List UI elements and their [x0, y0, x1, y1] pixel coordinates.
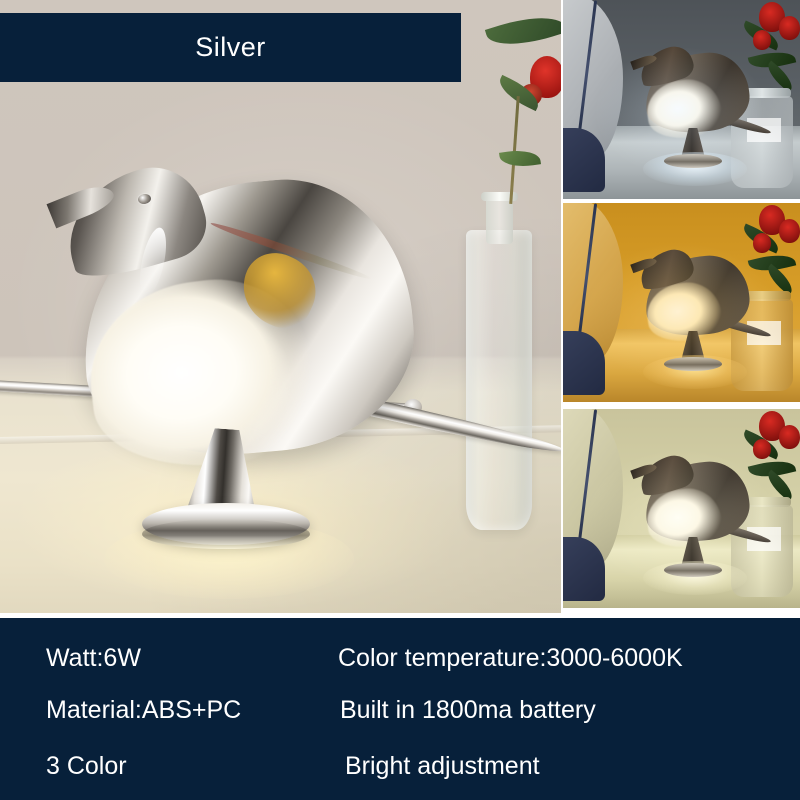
plant-leaf-icon [485, 7, 561, 55]
spec-row: Watt:6W Color temperature:3000-6000K [0, 644, 800, 678]
chrome-bird-lamp [46, 163, 536, 593]
thumbnail-neutral-white[interactable] [563, 409, 800, 608]
spec-row: 3 Color Bright adjustment [0, 752, 800, 786]
spec-color-temperature: Color temperature:3000-6000K [338, 644, 683, 673]
scene-light-tint [563, 409, 800, 608]
spec-brightness: Bright adjustment [345, 752, 540, 781]
scene-light-tint [563, 0, 800, 199]
thumbnail-warm-amber[interactable] [563, 203, 800, 402]
variant-label-banner: Silver [0, 13, 461, 82]
scene-light-tint [563, 203, 800, 402]
product-image-page: Silver [0, 0, 800, 800]
spec-row: Material:ABS+PC Built in 1800ma battery [0, 696, 800, 730]
spec-battery: Built in 1800ma battery [340, 696, 596, 725]
thumbnail-cool-white[interactable] [563, 0, 800, 199]
variant-label-text: Silver [195, 32, 266, 63]
spec-watt: Watt:6W [46, 644, 141, 673]
scene [563, 0, 800, 199]
hero-product-photo: Silver [0, 0, 561, 613]
spec-color-count: 3 Color [46, 752, 127, 781]
product-photo-collage: Silver [0, 0, 800, 613]
scene [563, 203, 800, 402]
lamp-base-rim [142, 519, 310, 549]
thumbnail-column [563, 0, 800, 613]
scene [563, 409, 800, 608]
spec-material: Material:ABS+PC [46, 696, 241, 725]
